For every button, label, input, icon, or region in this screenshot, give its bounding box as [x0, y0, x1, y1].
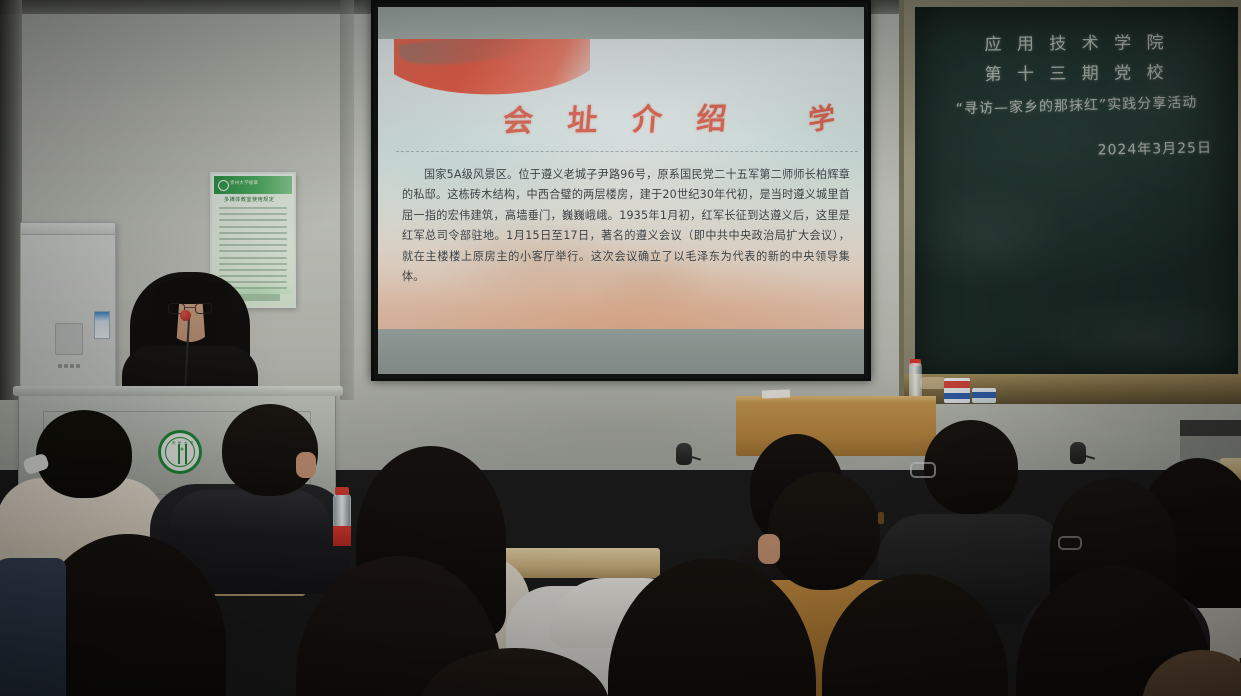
blackboard-line-1: 应 用 技 术 学 院 — [915, 27, 1238, 55]
energy-label-sticker — [94, 311, 110, 339]
chalk-piece — [920, 377, 946, 389]
person-6-glasses — [910, 462, 936, 478]
air-conditioner-vent — [21, 223, 115, 235]
blackboard-line-2: 第 十 三 期 党 校 — [915, 57, 1238, 85]
person-8-glasses — [1058, 536, 1082, 550]
person-2-hood — [170, 490, 330, 538]
person-2-head — [222, 404, 318, 496]
air-conditioner — [20, 222, 116, 394]
audience-person-17-sleeve — [0, 558, 66, 696]
slide-title: 会 址 介 绍 — [378, 92, 864, 142]
water-bottle-1-cap — [335, 487, 349, 495]
person-2-ear — [296, 452, 316, 478]
wall-corner-mid — [340, 0, 354, 400]
microphone — [180, 310, 191, 321]
classroom-photo-scene: 贵州大学规章 多媒体教室使用规定 会 址 介 绍 学 国家5A级风景区。位于遵义… — [0, 0, 1241, 696]
person-1-head — [36, 410, 132, 498]
poster-logo-icon — [218, 180, 229, 191]
water-bottle-1-label — [333, 526, 351, 546]
poster-subtitle: 多媒体教室使用规定 — [224, 196, 274, 203]
projection-screen-surface: 会 址 介 绍 学 国家5A级风景区。位于遵义老城子尹路96号，原系国民党二十五… — [378, 7, 864, 374]
slide-title-calligraphy-mark: 学 — [808, 94, 836, 138]
wall-corner-left — [0, 0, 22, 400]
slide-divider-line — [396, 151, 858, 152]
presenter-at-podium — [122, 272, 258, 398]
projection-screen: 会 址 介 绍 学 国家5A级风景区。位于遵义老城子尹路96号，原系国民党二十五… — [371, 0, 871, 381]
person-7-ear — [758, 534, 780, 564]
seated-audience — [0, 398, 1241, 696]
blackboard-date: 2024年3月25日 — [915, 137, 1238, 164]
projector-letterbox-bottom — [378, 329, 864, 374]
slide-body-text: 国家5A级风景区。位于遵义老城子尹路96号，原系国民党二十五军第二师师长柏辉章的… — [402, 165, 850, 287]
projector-letterbox-top — [378, 7, 864, 39]
person-6-head — [924, 420, 1018, 514]
person-7-jacket-tag — [878, 512, 884, 524]
poster-header-bar: 贵州大学规章 — [214, 176, 292, 194]
air-conditioner-buttons[interactable] — [54, 360, 84, 371]
blackboard-line-3: “寻访—家乡的那抹红”实践分享活动 — [915, 90, 1238, 119]
blackboard-surface: 应 用 技 术 学 院 第 十 三 期 党 校 “寻访—家乡的那抹红”实践分享活… — [915, 7, 1238, 374]
air-conditioner-display — [55, 323, 83, 355]
blackboard-frame: 应 用 技 术 学 院 第 十 三 期 党 校 “寻访—家乡的那抹红”实践分享活… — [899, 0, 1241, 404]
poster-header-title: 贵州大学规章 — [230, 180, 258, 186]
presentation-slide: 会 址 介 绍 学 国家5A级风景区。位于遵义老城子尹路96号，原系国民党二十五… — [378, 39, 864, 336]
podium-top-surface — [13, 386, 343, 396]
person-7-head — [768, 472, 880, 590]
